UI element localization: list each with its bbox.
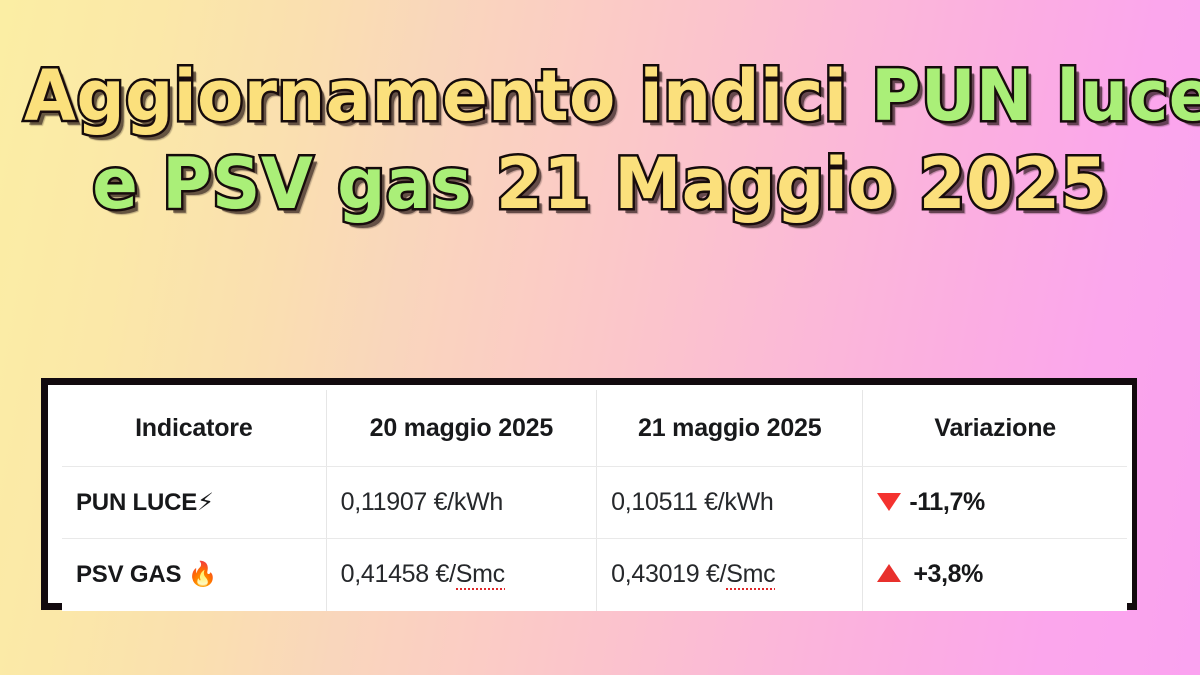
value-unit: Smc [456,560,505,590]
status-badge: +3,8% [913,560,983,588]
triangle-up-icon [877,564,901,582]
cell-value-prev: 0,41458 €/Smc [326,539,597,611]
table-row: PUN LUCE⚡ 0,11907 €/kWh 0,10511 €/kWh -1… [62,467,1127,539]
title-word: 21 [496,140,590,228]
cell-value-prev: 0,11907 €/kWh [326,467,597,539]
fire-icon: 🔥 [188,560,218,588]
title-word: PSV [162,140,313,228]
title-word: PUN [871,52,1033,140]
lightning-bolt-icon: ⚡ [197,488,214,516]
title-word: 2025 [919,140,1108,228]
indicator-label: PUN LUCE [76,489,197,516]
title-word: gas [337,140,472,228]
cell-indicator: PUN LUCE⚡ [62,467,326,539]
table-header: Indicatore 20 maggio 2025 21 maggio 2025… [62,390,1127,467]
rates-table-frame: Indicatore 20 maggio 2025 21 maggio 2025… [41,378,1137,610]
title-line-1: Aggiornamento indici PUN luce [24,52,1176,140]
column-header-date-prev: 20 maggio 2025 [326,390,597,467]
column-header-variation: Variazione [863,390,1127,467]
status-badge: -11,7% [909,488,984,516]
rates-table: Indicatore 20 maggio 2025 21 maggio 2025… [62,390,1127,611]
page-title: Aggiornamento indici PUN luce e PSV gas … [0,52,1200,228]
cell-variation: +3,8% [863,539,1127,611]
title-word: Aggiornamento [24,52,616,140]
table-row: PSV GAS 🔥 0,41458 €/Smc 0,43019 €/Smc +3… [62,539,1127,611]
cell-indicator: PSV GAS 🔥 [62,539,326,611]
title-word: e [92,140,138,228]
value-number: 0,41458 €/ [341,560,456,588]
title-word: Maggio [614,140,895,228]
column-header-date-curr: 21 maggio 2025 [597,390,863,467]
column-header-indicator: Indicatore [62,390,326,467]
table-header-row: Indicatore 20 maggio 2025 21 maggio 2025… [62,390,1127,467]
triangle-down-icon [877,493,901,511]
indicator-label: PSV GAS [76,561,181,588]
title-line-2: e PSV gas 21 Maggio 2025 [24,140,1176,228]
poster-canvas: Aggiornamento indici PUN luce e PSV gas … [0,0,1200,675]
cell-variation: -11,7% [863,467,1127,539]
title-word: luce [1057,52,1200,140]
cell-value-curr: 0,43019 €/Smc [597,539,863,611]
title-word: indici [640,52,848,140]
value-number: 0,43019 €/ [611,560,726,588]
cell-value-curr: 0,10511 €/kWh [597,467,863,539]
table-body: PUN LUCE⚡ 0,11907 €/kWh 0,10511 €/kWh -1… [62,467,1127,611]
value-unit: Smc [726,560,775,590]
